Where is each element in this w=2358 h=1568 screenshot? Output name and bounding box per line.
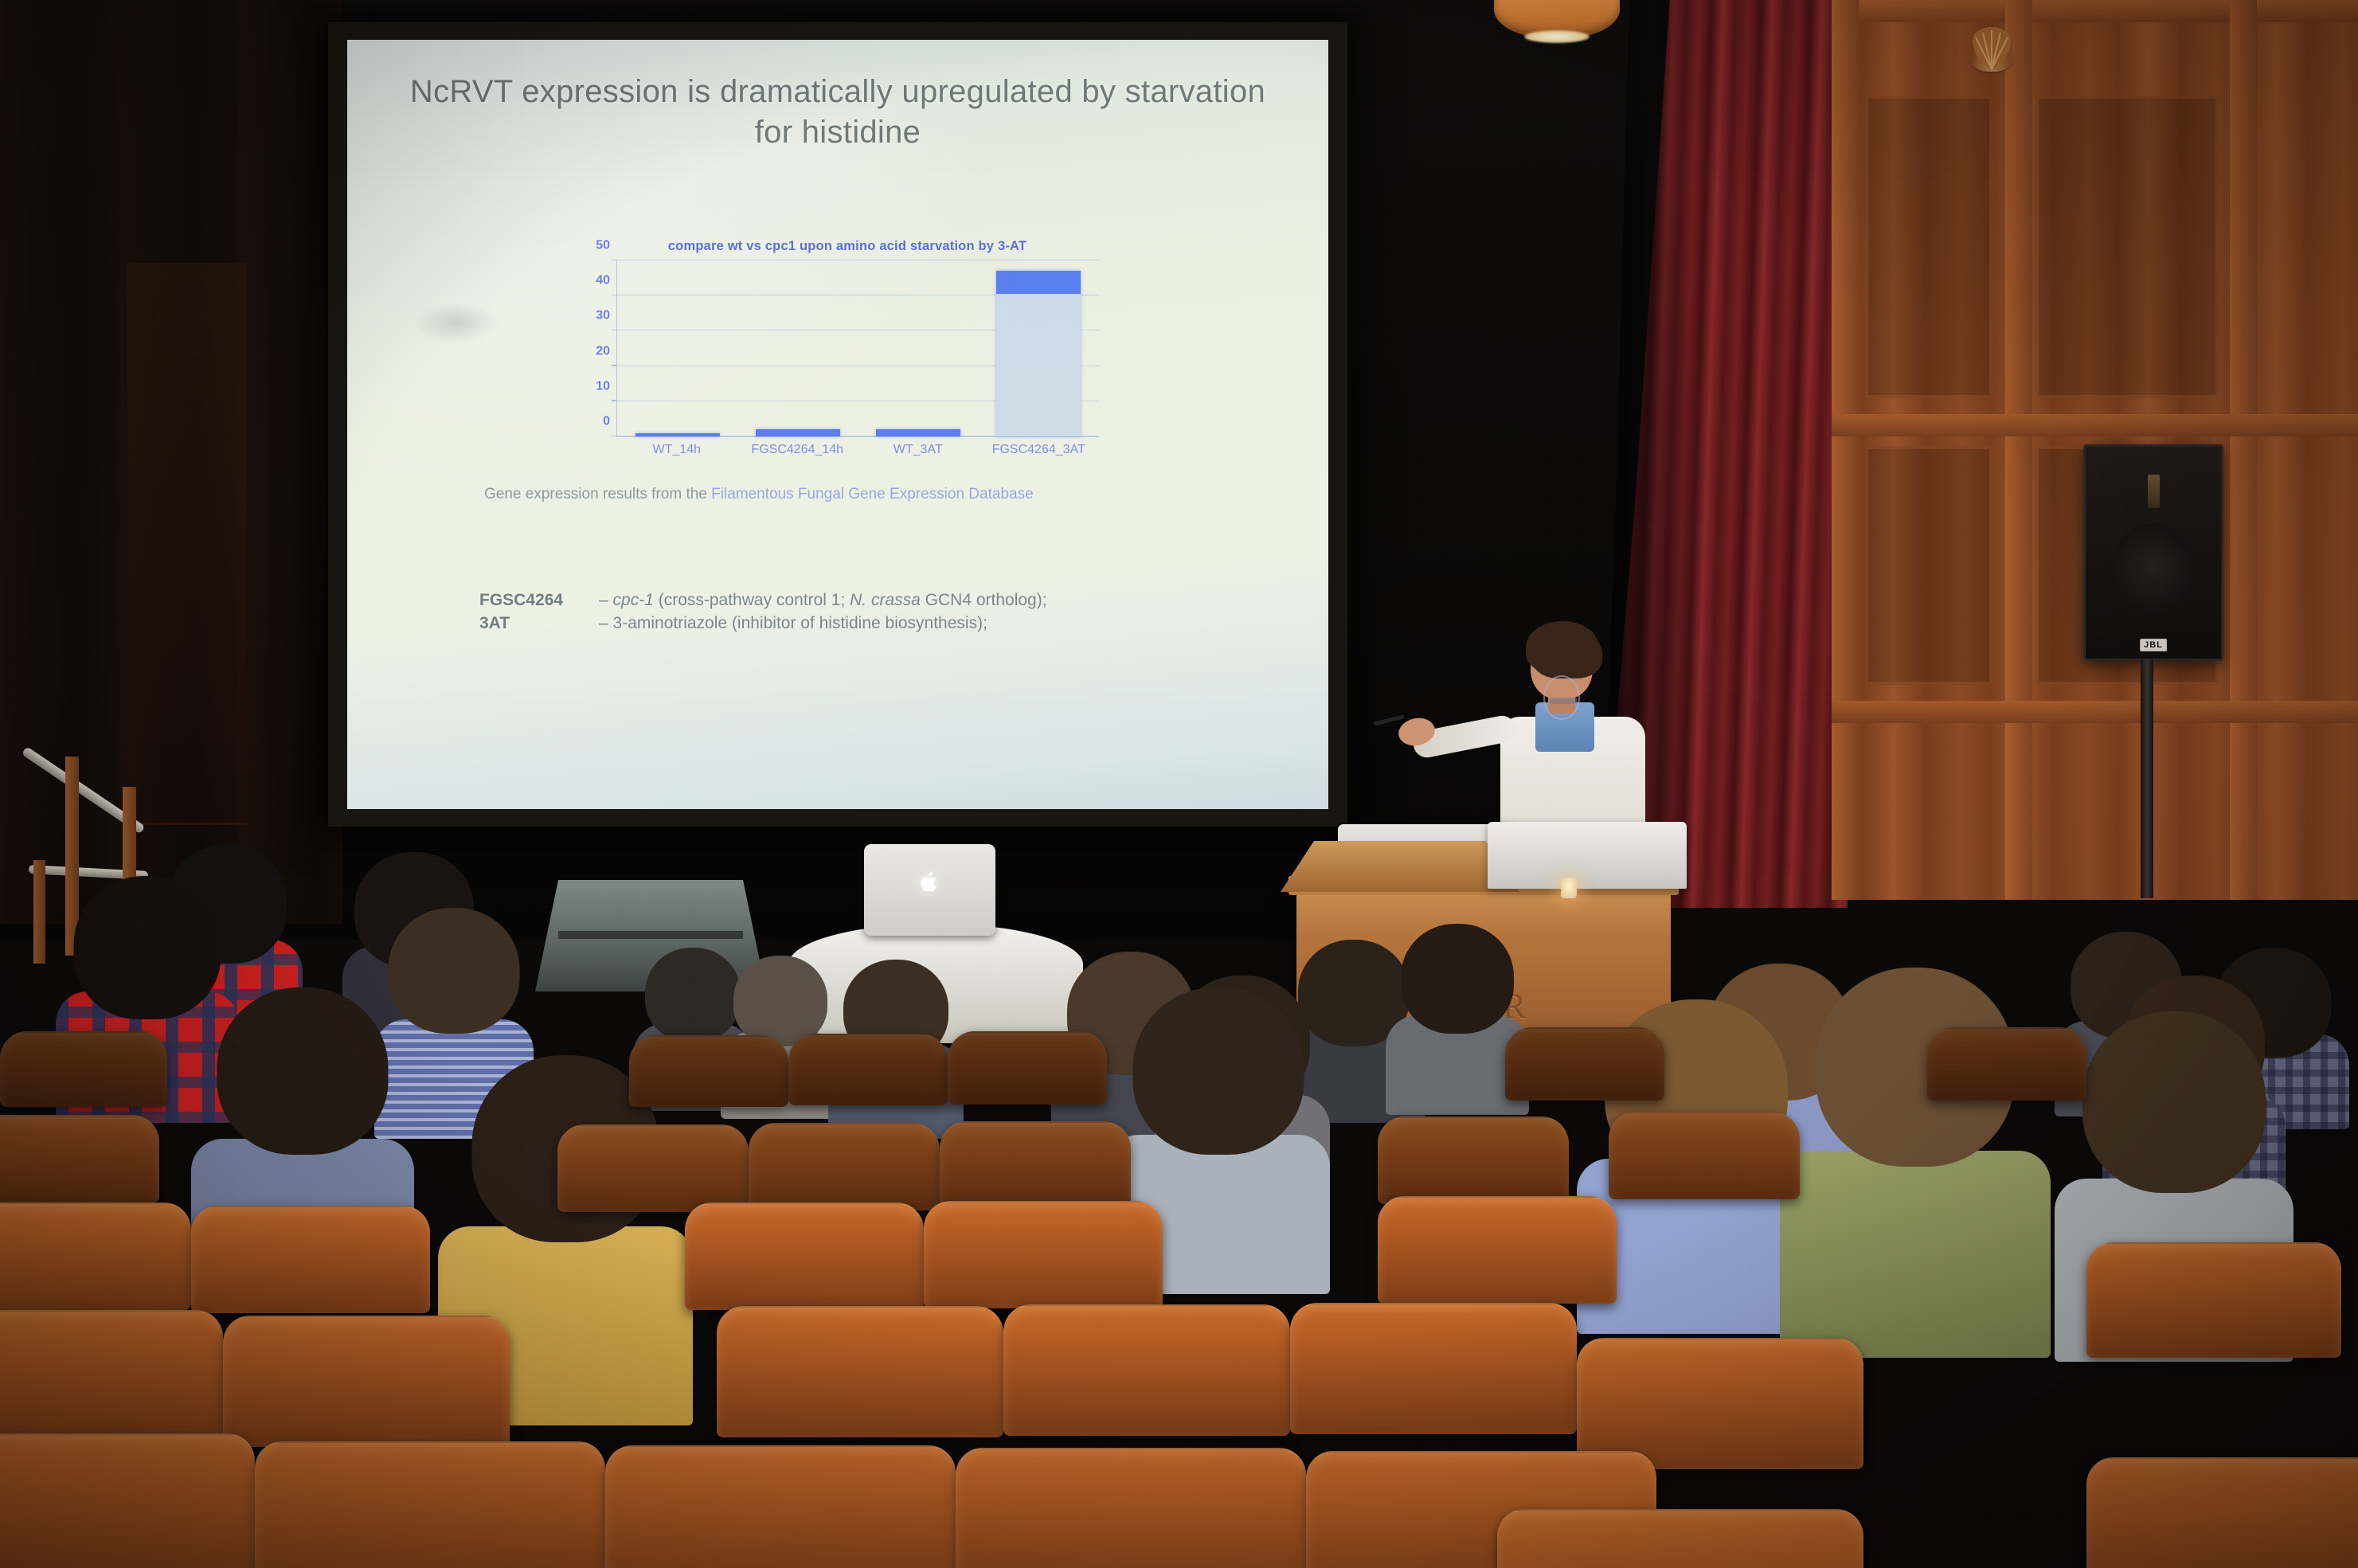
theater-seat [629,1035,788,1107]
legend-row: FGSC4264 – cpc-1 (cross-pathway control … [479,589,1047,612]
chart-y-tick-mark [612,295,617,296]
theater-seat [0,1031,167,1107]
chart-plot-area: 01020304050 [616,260,1099,437]
legend-key: FGSC4264 [479,589,599,612]
theater-seat [956,1448,1306,1568]
chart-bar [635,433,720,436]
audience-head [2082,1011,2266,1193]
audience-head [1401,924,1514,1034]
theater-seat [924,1201,1163,1308]
chart-x-tick-label: FGSC4264_14h [737,443,858,457]
chart-bar [996,271,1081,436]
bar-chart: compare wt vs cpc1 upon amino acid starv… [585,239,1110,470]
audience-head [217,987,389,1155]
legend-row: 3AT – 3-aminotriazole (inhibitor of hist… [479,612,1047,635]
audience [0,828,2358,1568]
chart-bar-slot [858,260,979,436]
theater-seat [1378,1196,1617,1304]
chart-x-tick-label: WT_3AT [858,443,979,457]
theater-seat [1497,1509,1863,1568]
slide-source-line: Gene expression results from the Filamen… [484,486,1034,503]
theater-seat [1927,1027,2086,1101]
theater-seat [557,1124,749,1212]
chart-title: compare wt vs cpc1 upon amino acid starv… [585,239,1110,254]
theater-seat [0,1115,159,1202]
chart-bar-slot [737,260,858,436]
presentation-slide: NcRVT expression is dramatically upregul… [347,40,1328,809]
audience-head [733,956,827,1046]
chart-y-tick-mark [612,436,617,437]
woofer-icon [2110,523,2197,620]
chart-y-tick-label: 40 [596,274,610,288]
auditorium-scene: NcRVT expression is dramatically upregul… [0,0,2358,1568]
chart-y-tick-mark [612,400,617,401]
theater-seat [1609,1112,1800,1199]
chart-x-axis-labels: WT_14hFGSC4264_14hWT_3ATFGSC4264_3AT [616,443,1099,457]
tweeter-icon [2148,475,2160,509]
legend-description: – 3-aminotriazole (inhibitor of histidin… [599,612,987,635]
projection-screen-frame: NcRVT expression is dramatically upregul… [328,22,1347,827]
chart-bar [876,429,960,436]
theater-seat [255,1441,605,1568]
slide-abbreviation-legend: FGSC4264 – cpc-1 (cross-pathway control … [479,589,1047,635]
chart-x-tick-label: WT_14h [616,443,737,457]
theater-seat [605,1445,956,1568]
theater-seat [1290,1303,1577,1434]
theater-seat [717,1306,1003,1437]
source-database-link[interactable]: Filamentous Fungal Gene Expression Datab… [711,486,1034,502]
chart-y-tick-mark [612,365,617,366]
theater-seat [2086,1457,2358,1568]
chart-x-tick-label: FGSC4264_3AT [979,443,1100,457]
theater-seat [1003,1304,1290,1436]
chart-y-tick-label: 50 [596,238,610,252]
pendant-light-icon [1494,0,1620,38]
projection-screen: NcRVT expression is dramatically upregul… [347,40,1328,809]
chart-bar [756,429,840,436]
theater-seat [0,1310,223,1441]
chart-y-tick-mark [612,260,617,261]
legend-key: 3AT [479,612,599,635]
theater-seat [0,1433,255,1568]
theater-seat [1577,1338,1863,1469]
theater-seat [788,1034,948,1105]
speaker-brand-label: JBL [2140,639,2167,651]
chart-y-tick-mark [612,330,617,331]
theater-seat [1505,1027,1664,1101]
theater-seat [223,1316,510,1447]
sweatshirt-logo-icon [1543,675,1580,720]
slide-title: NcRVT expression is dramatically upregul… [387,72,1288,153]
theater-seat [0,1202,191,1310]
chart-bar-slot [617,260,737,436]
theater-seat [1378,1116,1569,1204]
chart-y-tick-label: 20 [596,344,610,358]
audience-member [1784,968,2047,1302]
theater-seat [2086,1242,2341,1358]
chart-bars [617,260,1099,436]
theater-seat [685,1202,924,1310]
chart-y-tick-label: 0 [603,414,610,428]
theater-seat [948,1031,1107,1105]
pa-speaker: JBL [2083,444,2223,661]
theater-seat [191,1206,430,1313]
chart-y-tick-label: 30 [596,309,610,323]
source-prefix: Gene expression results from the [484,486,711,502]
audience-torso [1780,1151,2051,1358]
legend-description: – cpc-1 (cross-pathway control 1; N. cra… [599,589,1047,612]
chart-bar-slot [979,260,1099,436]
carved-scallop-shell-icon [1967,25,2016,72]
chart-y-tick-label: 10 [596,379,610,393]
theater-seat [749,1123,940,1210]
audience-head [1133,987,1304,1155]
theater-seat [940,1121,1131,1209]
